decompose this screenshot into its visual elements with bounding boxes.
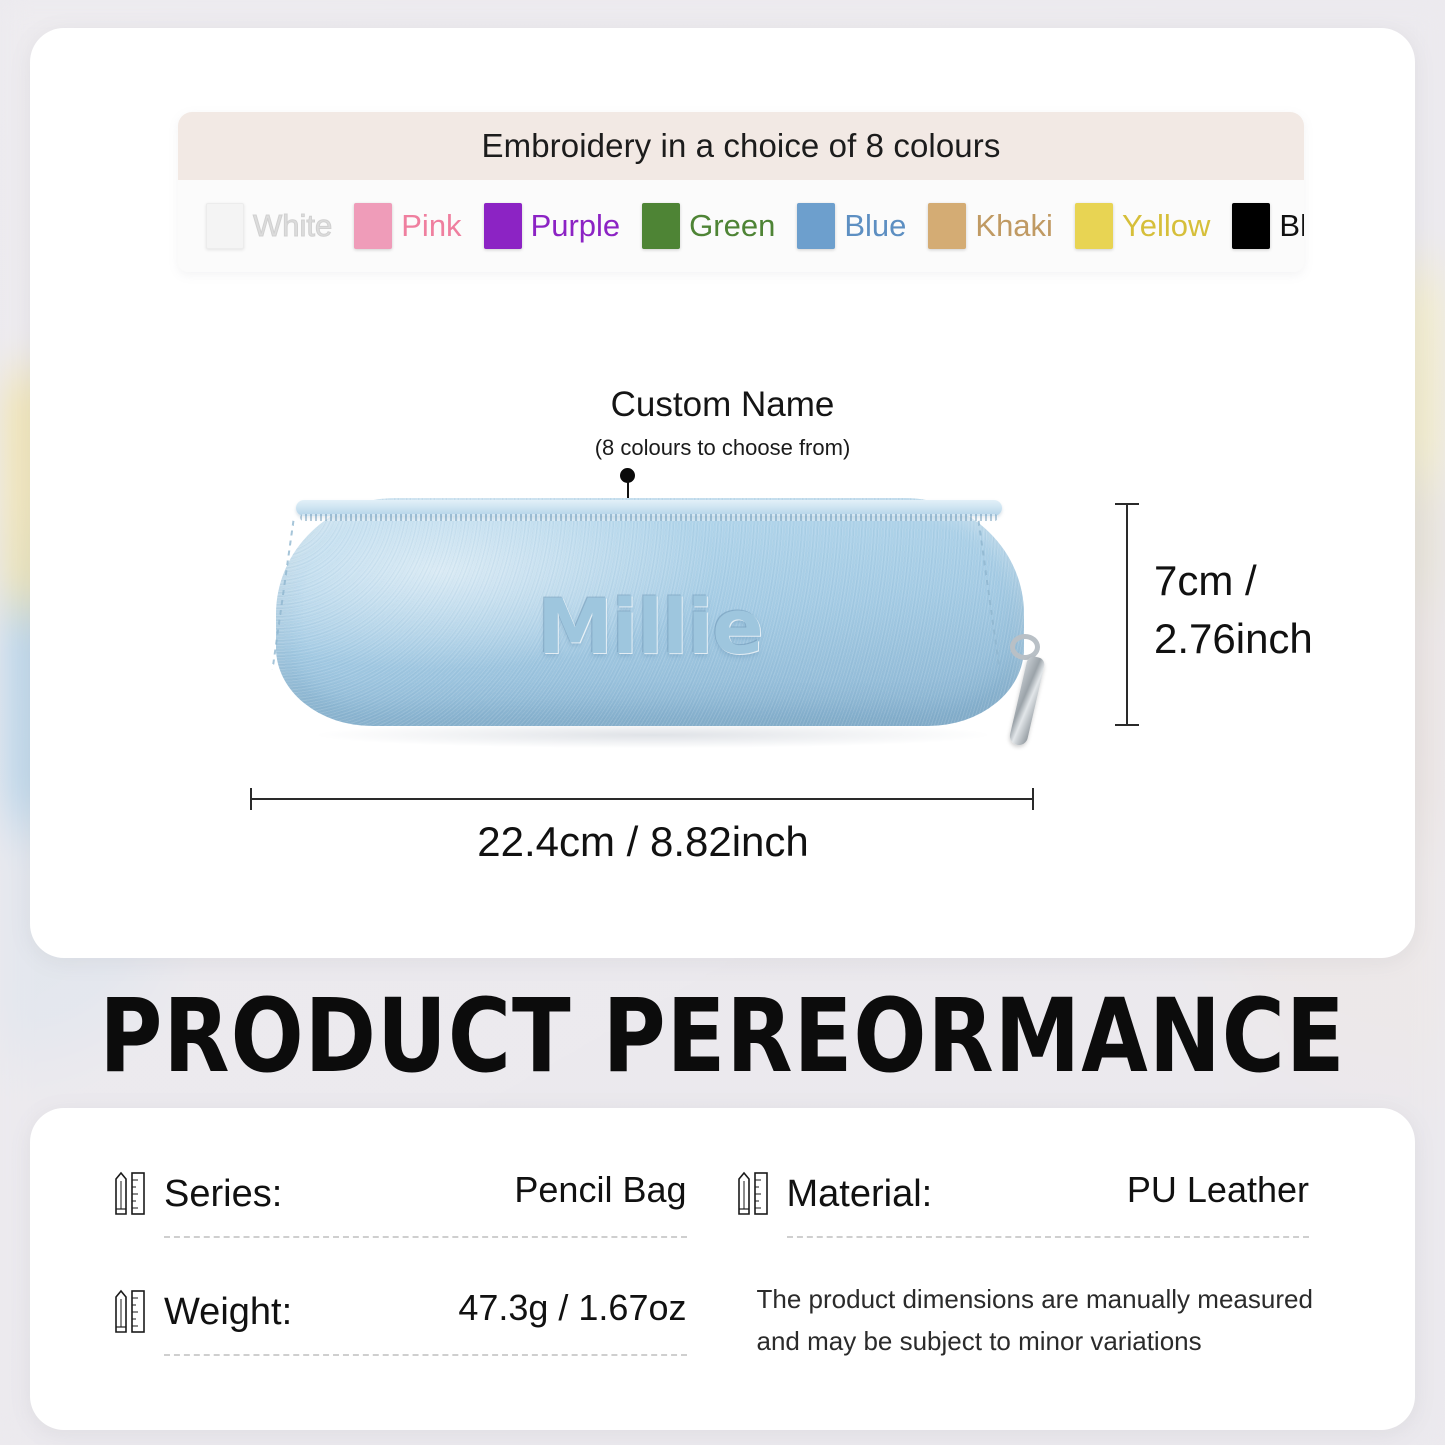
swatch-green-icon	[642, 203, 680, 249]
spec-row: Material:PU Leather	[733, 1156, 1356, 1274]
swatch-white-icon	[206, 203, 244, 249]
pencil-ruler-icon	[733, 1169, 773, 1219]
colour-option-yellow[interactable]: Yellow	[1075, 203, 1210, 249]
height-dimension: 7cm / 2.76inch	[1112, 500, 1312, 730]
pencil-bag-image: Millie	[248, 490, 1068, 780]
swatch-khaki-icon	[928, 203, 966, 249]
swatch-label: Khaki	[975, 208, 1053, 244]
legend-header: Embroidery in a choice of 8 colours	[178, 112, 1304, 180]
callout-title: Custom Name	[0, 385, 1445, 425]
pencil-ruler-icon	[110, 1169, 150, 1219]
pencil-ruler-icon	[110, 1287, 150, 1337]
swatch-purple-icon	[484, 203, 522, 249]
embroidered-name: Millie	[248, 582, 1052, 671]
width-dimension-label: 22.4cm / 8.82inch	[248, 818, 1038, 866]
height-dimension-line	[1126, 504, 1128, 726]
height-cap-bottom	[1115, 724, 1139, 726]
custom-name-callout: Custom Name (8 colours to choose from)	[0, 385, 1445, 461]
swatch-label: White	[253, 208, 332, 244]
spec-divider	[164, 1354, 687, 1356]
spec-label: Material:	[787, 1173, 933, 1216]
measurement-note: The product dimensions are manually meas…	[757, 1278, 1357, 1362]
legend-title: Embroidery in a choice of 8 colours	[482, 127, 1001, 165]
bag-zipper-teeth	[300, 514, 998, 521]
spec-value: Pencil Bag	[514, 1169, 686, 1211]
swatch-pink-icon	[354, 203, 392, 249]
specifications-grid: Series:Pencil BagWeight:47.3g / 1.67oz M…	[30, 1108, 1415, 1430]
spec-row: Series:Pencil Bag	[110, 1156, 733, 1274]
page-title: PRODUCT PEREORMANCE	[0, 978, 1445, 1096]
height-line-1: 7cm /	[1154, 552, 1334, 610]
colour-option-khaki[interactable]: Khaki	[928, 203, 1053, 249]
spec-value: PU Leather	[1127, 1169, 1309, 1211]
colour-option-green[interactable]: Green	[642, 203, 775, 249]
swatch-blue-icon	[797, 203, 835, 249]
colour-option-pink[interactable]: Pink	[354, 203, 461, 249]
swatch-label: Black	[1279, 208, 1304, 244]
spec-column-right: Material:PU LeatherThe product dimension…	[733, 1156, 1356, 1430]
callout-subtitle: (8 colours to choose from)	[0, 435, 1445, 461]
width-cap-right	[1032, 788, 1034, 810]
spec-value: 47.3g / 1.67oz	[458, 1287, 686, 1329]
swatch-black-icon	[1232, 203, 1270, 249]
spec-row: Weight:47.3g / 1.67oz	[110, 1274, 733, 1392]
height-dimension-label: 7cm / 2.76inch	[1154, 552, 1334, 668]
swatch-label: Pink	[401, 208, 461, 244]
swatch-label: Blue	[844, 208, 906, 244]
swatch-label: Yellow	[1122, 208, 1210, 244]
spec-column-left: Series:Pencil BagWeight:47.3g / 1.67oz	[110, 1156, 733, 1430]
colour-option-purple[interactable]: Purple	[484, 203, 621, 249]
spec-divider	[787, 1236, 1310, 1238]
spec-label: Weight:	[164, 1291, 292, 1334]
swatch-label: Purple	[531, 208, 621, 244]
width-dimension	[248, 788, 1038, 812]
height-line-2: 2.76inch	[1154, 610, 1334, 668]
legend-swatch-row: WhitePinkPurpleGreenBlueKhakiYellowBlack	[178, 180, 1304, 272]
embroidery-colour-legend: Embroidery in a choice of 8 colours Whit…	[178, 112, 1304, 272]
spec-divider	[164, 1236, 687, 1238]
swatch-yellow-icon	[1075, 203, 1113, 249]
spec-label: Series:	[164, 1173, 282, 1216]
colour-option-white[interactable]: White	[206, 203, 332, 249]
colour-option-black[interactable]: Black	[1232, 203, 1304, 249]
colour-option-blue[interactable]: Blue	[797, 203, 906, 249]
width-dimension-line	[250, 798, 1034, 800]
swatch-label: Green	[689, 208, 775, 244]
